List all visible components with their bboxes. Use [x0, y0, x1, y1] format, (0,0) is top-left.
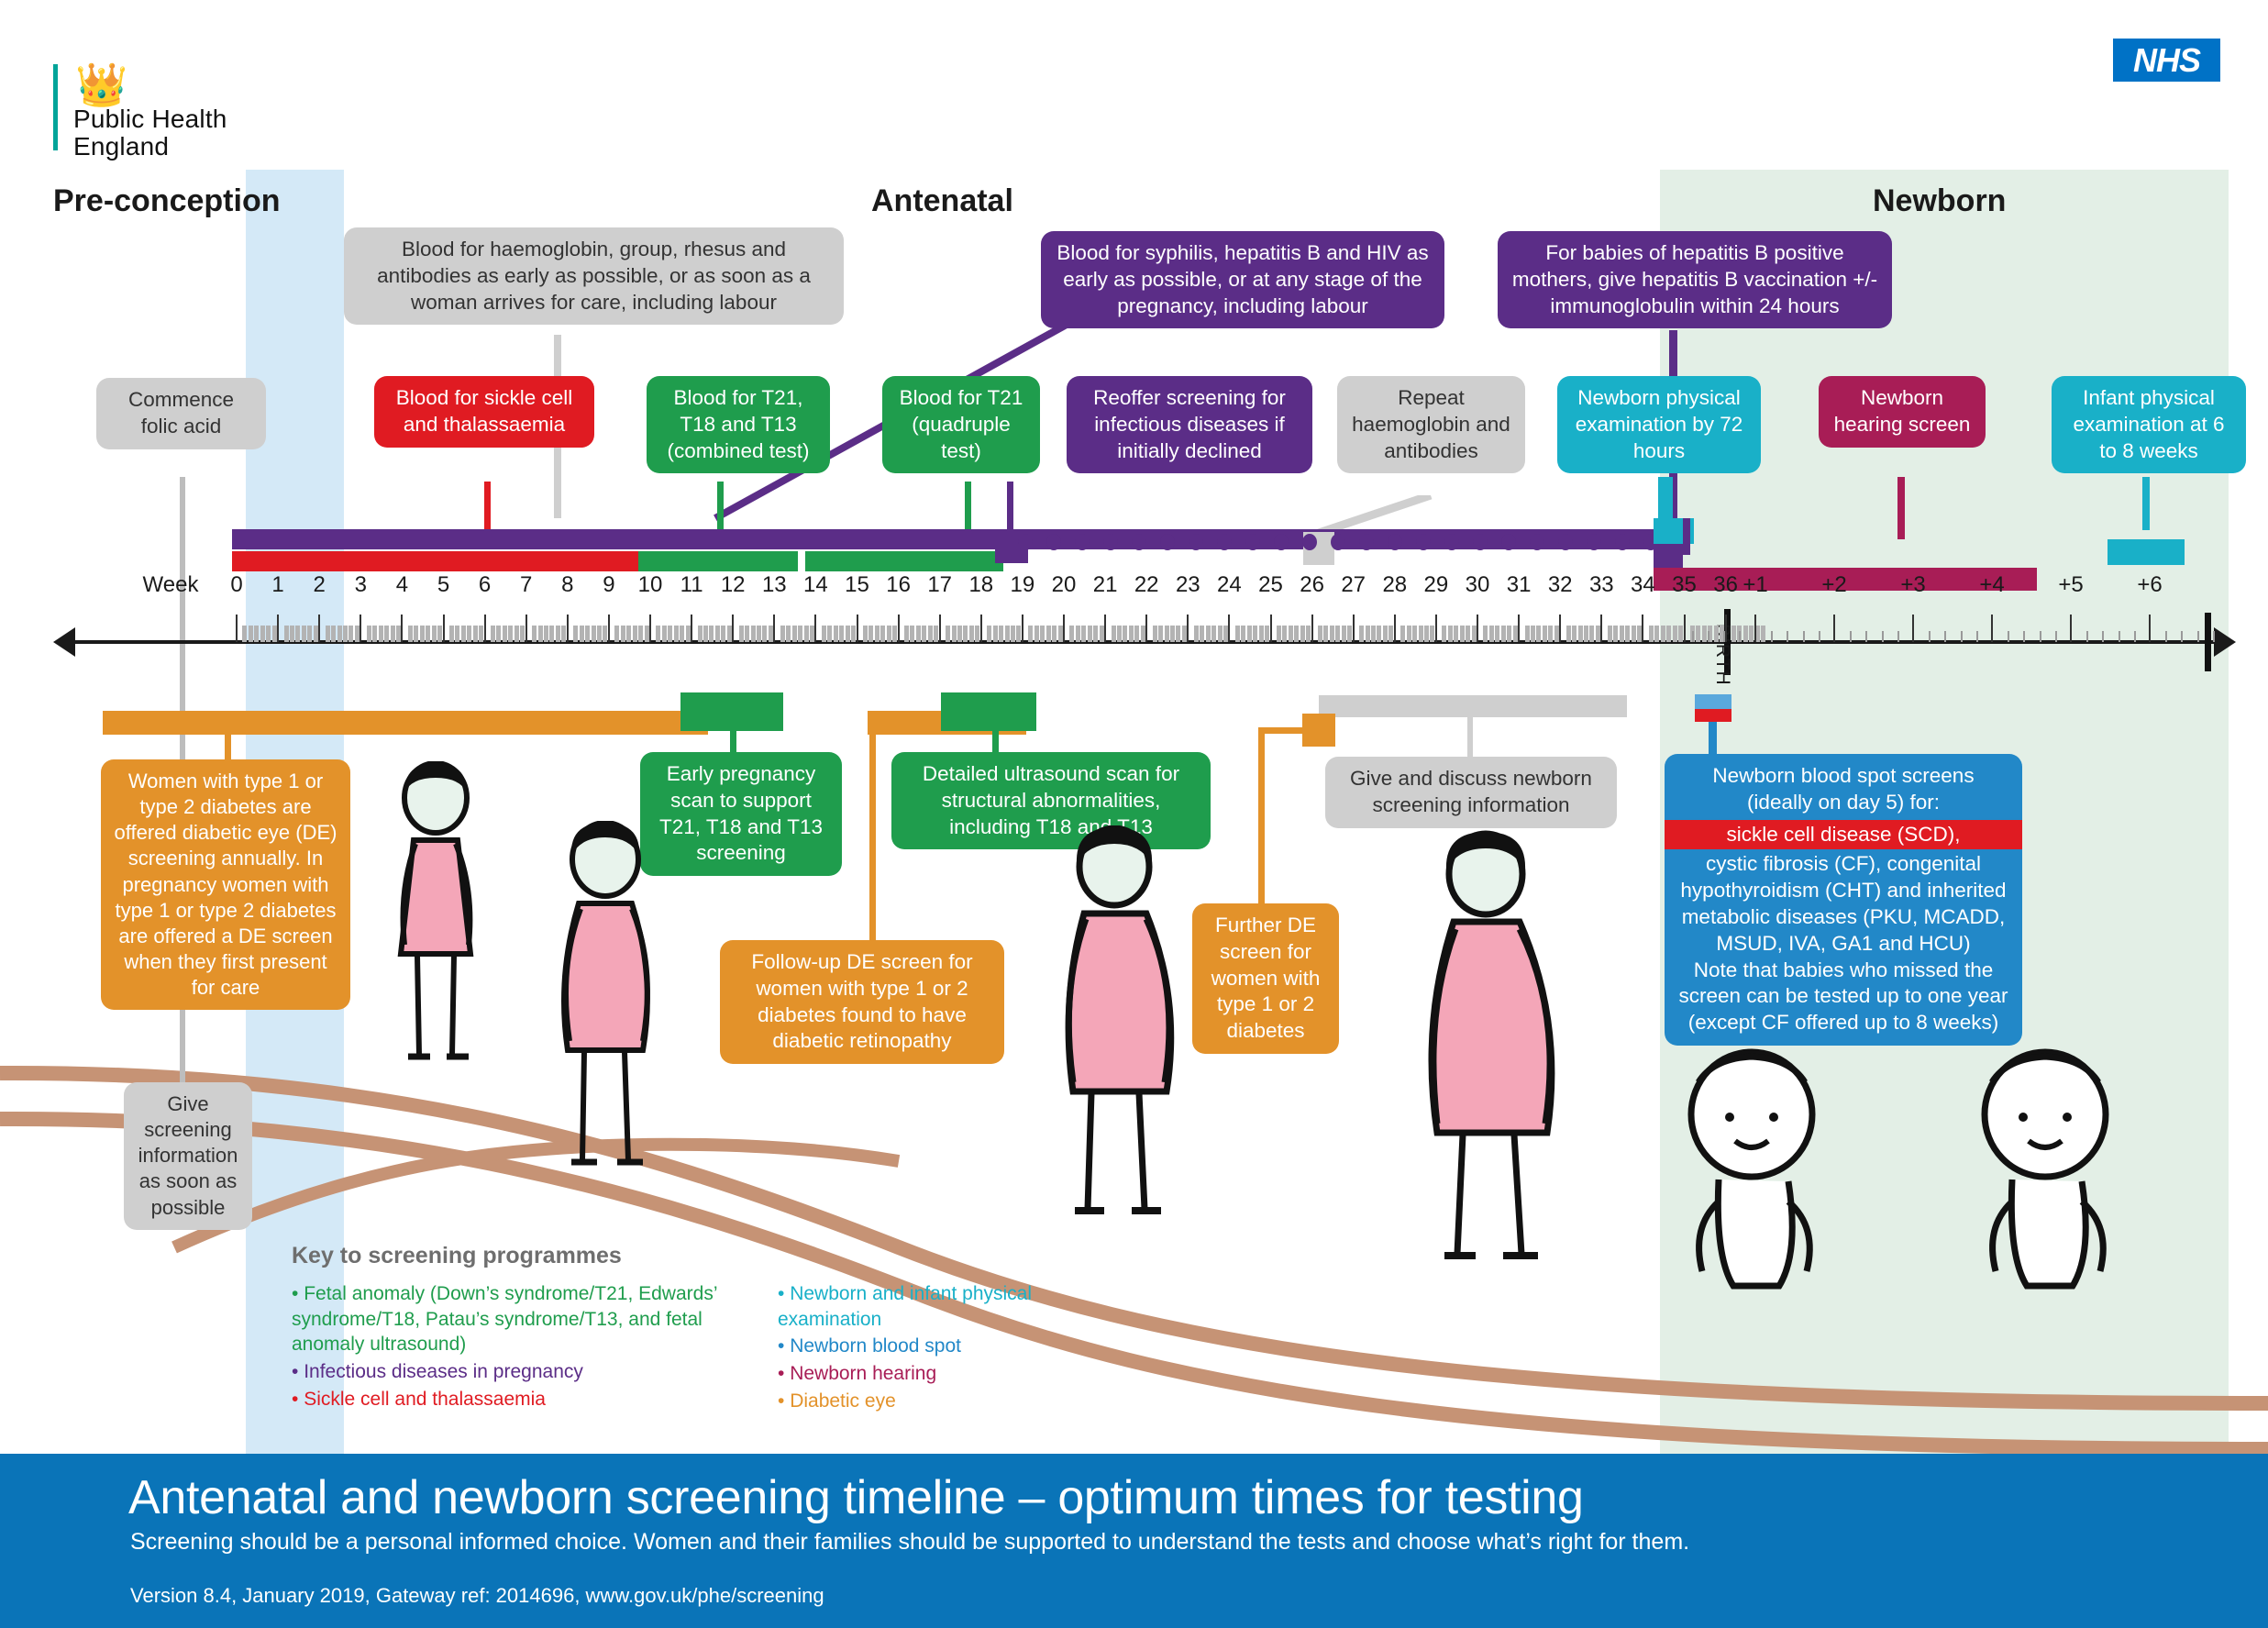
axis-week-label: 8: [561, 572, 573, 598]
axis-minor-tick: [1058, 626, 1063, 642]
axis-minor-tick: [633, 626, 637, 642]
axis-minor-tick: [1976, 631, 1978, 642]
key-item: • Fetal anomaly (Down’s syndrome/T21, Ed…: [292, 1281, 769, 1357]
bloodspot-conditions: cystic fibrosis (CF), congenital hypothy…: [1665, 849, 2022, 957]
axis-minor-tick: [254, 626, 259, 642]
axis-minor-tick: [1501, 626, 1506, 642]
axis-minor-tick: [614, 626, 619, 642]
axis-minor-tick: [1507, 626, 1511, 642]
axis-minor-tick: [260, 626, 265, 642]
key-item: • Newborn and infant physical examinatio…: [778, 1281, 1090, 1332]
axis-minor-tick: [1472, 626, 1477, 642]
axis-minor-tick: [727, 626, 732, 642]
axis-minor-tick: [1678, 626, 1683, 642]
axis-week-label: 9: [603, 572, 614, 598]
axis-minor-tick: [887, 626, 891, 642]
axis-minor-tick: [786, 626, 791, 642]
callout-quadruple-test: Blood for T21 (quadruple test): [882, 376, 1040, 473]
axis-week-label: 2: [314, 572, 326, 598]
axis-minor-tick: [343, 626, 348, 642]
infectious-bar-dot: [1075, 534, 1090, 550]
axis-minor-tick: [1708, 631, 1709, 642]
axis-week-label: 14: [803, 572, 828, 598]
axis-minor-tick: [987, 626, 991, 642]
axis-minor-tick: [1483, 626, 1488, 642]
key-item: • Newborn blood spot: [778, 1334, 1090, 1359]
key-item-label: Newborn hearing: [790, 1363, 936, 1384]
axis-minor-tick: [1011, 626, 1015, 642]
axis-major-tick: [1394, 615, 1396, 642]
axis-minor-tick: [721, 626, 725, 642]
axis-minor-tick: [580, 626, 584, 642]
connector-combined-test: [717, 482, 724, 537]
axis-minor-tick: [1787, 631, 1788, 642]
axis-minor-tick: [1882, 631, 1884, 642]
axis-minor-tick: [680, 626, 684, 642]
axis-week-label: 29: [1424, 572, 1449, 598]
axis-minor-tick: [2102, 631, 2104, 642]
callout-syphilis-hepb-hiv: Blood for syphilis, hepatitis B and HIV …: [1041, 231, 1444, 328]
axis-minor-tick: [709, 626, 714, 642]
key-item: • Newborn hearing: [778, 1361, 1090, 1387]
axis-major-tick: [236, 615, 238, 642]
key-bullet-icon: •: [292, 1389, 304, 1410]
bar-fetal-anomaly-quadruple: [805, 551, 1003, 571]
infectious-bar-dot: [1046, 534, 1061, 550]
axis-minor-tick: [290, 626, 294, 642]
axis-minor-tick: [1578, 626, 1583, 642]
axis-minor-tick: [910, 626, 914, 642]
axis-minor-tick: [846, 626, 850, 642]
infectious-bar-dot: [1217, 534, 1232, 550]
axis-minor-tick: [957, 626, 962, 642]
axis-minor-tick: [969, 626, 974, 642]
axis-minor-tick: [491, 626, 495, 642]
axis-minor-tick: [1388, 626, 1393, 642]
axis-minor-tick: [1731, 626, 1736, 642]
infectious-bar-dot: [1359, 534, 1374, 550]
axis-major-tick: [1187, 615, 1189, 642]
axis-major-tick: [857, 615, 858, 642]
callout-diabetic-eye-main: Women with type 1 or type 2 diabetes are…: [101, 759, 350, 1010]
bloodspot-line1: Newborn blood spot screens: [1665, 754, 2022, 790]
key-bullet-icon: •: [292, 1283, 304, 1304]
callout-infant-6to8-weeks: Infant physical examination at 6 to 8 we…: [2052, 376, 2246, 473]
axis-minor-tick: [242, 626, 247, 642]
axis-major-tick: [1600, 615, 1602, 642]
logo-rule: [53, 64, 58, 150]
axis-minor-tick: [1194, 626, 1199, 642]
axis-minor-tick: [1749, 626, 1754, 642]
marker-infectious-birth-stem: [1683, 518, 1690, 555]
axis-minor-tick: [863, 626, 868, 642]
callout-further-de-screen: Further DE screen for women with type 1 …: [1192, 903, 1339, 1054]
axis-minor-tick: [2023, 631, 2025, 642]
axis-minor-tick: [868, 626, 873, 642]
axis-week-label: 27: [1341, 572, 1366, 598]
axis-minor-tick: [348, 626, 353, 642]
axis-major-tick: [360, 615, 361, 642]
axis-minor-tick: [880, 626, 885, 642]
axis-minor-tick: [963, 626, 968, 642]
callout-give-screening-info: Give screening information as soon as po…: [124, 1082, 252, 1230]
axis-minor-tick: [1081, 626, 1086, 642]
axis-week-label: 18: [968, 572, 993, 598]
axis-week-label: 15: [845, 572, 869, 598]
axis-minor-tick: [1235, 626, 1240, 642]
public-health-england-logo: 👑 Public Health England: [53, 48, 264, 149]
callout-sickle-cell: Blood for sickle cell and thalassaemia: [374, 376, 594, 448]
axis-minor-tick: [769, 626, 773, 642]
axis-minor-tick: [1046, 626, 1051, 642]
axis-minor-tick: [391, 626, 395, 642]
axis-minor-tick: [1182, 626, 1187, 642]
axis-minor-tick: [626, 626, 631, 642]
axis-minor-tick: [420, 626, 425, 642]
bar-infectious-dotted: [1018, 534, 1660, 550]
axis-major-tick: [443, 615, 445, 642]
footer-version: Version 8.4, January 2019, Gateway ref: …: [130, 1584, 824, 1608]
callout-repeat-haemoglobin: Repeat haemoglobin and antibodies: [1337, 376, 1525, 473]
axis-minor-tick: [384, 626, 389, 642]
axis-major-tick: [1353, 615, 1355, 642]
axis-minor-tick: [1771, 631, 1773, 642]
axis-minor-tick: [302, 626, 306, 642]
axis-minor-tick: [904, 626, 909, 642]
stage-heading-newborn: Newborn: [1873, 183, 2006, 219]
axis-minor-tick: [503, 626, 507, 642]
callout-newborn-screening-info: Give and discuss newborn screening infor…: [1325, 757, 1617, 828]
axis-minor-tick: [1649, 626, 1654, 642]
axis-minor-tick: [432, 626, 437, 642]
axis-minor-tick: [1460, 626, 1465, 642]
marker-bloodspot-blue: [1695, 694, 1731, 709]
axis-major-tick: [1684, 615, 1686, 642]
axis-minor-tick: [1347, 626, 1352, 642]
axis-minor-tick: [2213, 631, 2215, 642]
axis-minor-tick: [1016, 626, 1021, 642]
axis-week-label: 6: [479, 572, 491, 598]
axis-week-label: 32: [1548, 572, 1573, 598]
callout-haemoglobin: Blood for haemoglobin, group, rhesus and…: [344, 227, 844, 325]
axis-week-label: 11: [680, 572, 703, 598]
marker-infectious-birth: [1654, 544, 1683, 568]
axis-minor-tick: [1117, 626, 1122, 642]
axis-minor-tick: [2165, 631, 2167, 642]
axis-minor-tick: [372, 626, 377, 642]
axis-major-tick: [1559, 615, 1561, 642]
axis-major-tick: [1145, 615, 1147, 642]
axis-minor-tick: [892, 626, 897, 642]
axis-minor-tick: [1306, 626, 1311, 642]
axis-minor-tick: [437, 626, 442, 642]
axis-minor-tick: [1632, 626, 1636, 642]
axis-week-label: 1: [271, 572, 283, 598]
axis-major-tick: [1228, 615, 1230, 642]
axis-minor-tick: [1608, 626, 1612, 642]
axis-minor-tick: [1253, 626, 1257, 642]
axis-minor-tick: [592, 626, 596, 642]
axis-minor-tick: [1761, 626, 1765, 642]
axis-minor-tick: [2008, 631, 2009, 642]
axis-minor-tick: [307, 626, 312, 642]
axis-minor-tick: [668, 626, 672, 642]
axis-minor-tick: [757, 626, 761, 642]
axis-week-label: 5: [437, 572, 449, 598]
axis-minor-tick: [674, 626, 679, 642]
axis-post-label: +3: [1900, 572, 1925, 598]
axis-minor-tick: [1259, 626, 1264, 642]
axis-minor-tick: [1819, 631, 1820, 642]
key-item-label: Sickle cell and thalassaemia: [304, 1389, 546, 1410]
axis-minor-tick: [1176, 626, 1180, 642]
axis-minor-tick: [1335, 626, 1340, 642]
axis-minor-tick: [1129, 626, 1134, 642]
axis-minor-tick: [549, 626, 554, 642]
axis-minor-tick: [538, 626, 543, 642]
axis-minor-tick: [284, 626, 289, 642]
axis-minor-tick: [1400, 626, 1405, 642]
axis-minor-tick: [1536, 626, 1541, 642]
axis-minor-tick: [1584, 626, 1588, 642]
axis-minor-tick: [1005, 626, 1010, 642]
footer-banner: Antenatal and newborn screening timeline…: [0, 1454, 2268, 1628]
axis-minor-tick: [1620, 626, 1624, 642]
axis-minor-tick: [1696, 626, 1700, 642]
axis-minor-tick: [810, 626, 814, 642]
axis-major-tick: [1642, 615, 1643, 642]
axis-minor-tick: [1430, 626, 1434, 642]
infectious-bar-dot: [1160, 534, 1175, 550]
axis-minor-tick: [1489, 626, 1494, 642]
axis-minor-tick: [1134, 626, 1139, 642]
stage-heading-preconception: Pre-conception: [53, 183, 280, 219]
axis-week-label: 4: [396, 572, 408, 598]
axis-minor-tick: [698, 626, 703, 642]
callout-folic-acid: Commence folic acid: [96, 378, 266, 449]
key-bullet-icon: •: [778, 1335, 790, 1357]
key-bullet-icon: •: [778, 1390, 790, 1412]
axis-minor-tick: [1702, 626, 1707, 642]
key-item-label: Fetal anomaly (Down’s syndrome/T21, Edwa…: [292, 1283, 717, 1355]
axis-week-label: 33: [1589, 572, 1614, 598]
bar-infant-physical-exam: [2108, 539, 2185, 565]
axis-minor-tick: [1034, 626, 1039, 642]
axis-major-tick: [939, 615, 941, 642]
axis-major-tick: [484, 615, 486, 642]
axis-minor-tick: [1572, 626, 1577, 642]
axis-minor-tick: [751, 626, 756, 642]
axis-minor-tick: [266, 626, 271, 642]
key-bullet-icon: •: [778, 1363, 790, 1384]
axis-minor-tick: [2086, 631, 2088, 642]
axis-week-label: 23: [1176, 572, 1200, 598]
axis-minor-tick: [1589, 626, 1594, 642]
axis-minor-tick: [1289, 626, 1293, 642]
connector-further-de-horizontal: [1258, 727, 1308, 734]
bloodspot-note: Note that babies who missed the screen c…: [1665, 958, 2022, 1046]
axis-week-label: 17: [927, 572, 952, 598]
axis-post-label: +5: [2058, 572, 2083, 598]
axis-minor-tick: [597, 626, 602, 642]
axis-minor-tick: [2119, 631, 2120, 642]
axis-major-tick: [1104, 615, 1106, 642]
stage-heading-antenatal: Antenatal: [871, 183, 1013, 219]
axis-minor-tick: [798, 626, 802, 642]
axis-minor-tick: [1028, 626, 1033, 642]
axis-minor-tick: [804, 626, 809, 642]
axis-major-tick: [691, 615, 692, 642]
axis-minor-tick: [1803, 631, 1805, 642]
callout-newborn-hearing: Newborn hearing screen: [1819, 376, 1986, 448]
axis-minor-tick: [379, 626, 383, 642]
infectious-bar-dot: [1416, 534, 1431, 550]
axis-minor-tick: [1554, 626, 1559, 642]
axis-minor-tick: [1929, 631, 1931, 642]
axis-week-label: 34: [1631, 572, 1655, 598]
axis-week-label: 3: [355, 572, 367, 598]
axis-minor-tick: [851, 626, 856, 642]
axis-minor-tick: [703, 626, 708, 642]
axis-minor-tick: [2197, 631, 2199, 642]
axis-minor-tick: [662, 626, 667, 642]
axis-minor-tick: [573, 626, 578, 642]
axis-minor-tick: [1100, 626, 1104, 642]
axis-end-line: [2205, 613, 2211, 671]
axis-week-label: 22: [1134, 572, 1159, 598]
infectious-bar-dot: [1501, 534, 1516, 550]
infectious-bar-dot: [1473, 534, 1488, 550]
axis-minor-tick: [1241, 626, 1245, 642]
axis-week-label: 36: [1713, 572, 1738, 598]
axis-major-tick: [2149, 615, 2151, 642]
axis-minor-tick: [2181, 631, 2183, 642]
axis-minor-tick: [934, 626, 938, 642]
axis-minor-tick: [1123, 626, 1127, 642]
axis-minor-tick: [1300, 626, 1305, 642]
key-item: • Infectious diseases in pregnancy: [292, 1359, 769, 1385]
axis-minor-tick: [1153, 626, 1157, 642]
axis-minor-tick: [1654, 626, 1659, 642]
axis-post-label: +4: [1979, 572, 2004, 598]
axis-minor-tick: [408, 626, 413, 642]
bar-sickle-cell: [232, 551, 638, 571]
axis-major-tick: [1754, 615, 1756, 642]
connector-followup-de: [869, 735, 876, 955]
axis-minor-tick: [739, 626, 744, 642]
axis-minor-tick: [295, 626, 300, 642]
callout-combined-test: Blood for T21, T18 and T13 (combined tes…: [647, 376, 830, 473]
axis-minor-tick: [999, 626, 1003, 642]
axis-minor-tick: [1223, 626, 1228, 642]
nhs-logo: NHS: [2113, 39, 2220, 82]
callout-nipe-72-hours: Newborn physical examination by 72 hours: [1557, 376, 1761, 473]
axis-major-tick: [814, 615, 816, 642]
axis-major-tick: [980, 615, 982, 642]
key-bullet-icon: •: [292, 1361, 304, 1382]
axis-minor-tick: [2134, 631, 2136, 642]
axis-major-tick: [277, 615, 279, 642]
axis-week-label: 19: [1011, 572, 1035, 598]
axis-minor-tick: [1282, 626, 1287, 642]
axis-minor-tick: [1277, 626, 1281, 642]
phe-logo-line2: England: [73, 132, 169, 161]
axis-minor-tick: [1525, 626, 1530, 642]
marker-bloodspot-red: [1695, 709, 1731, 722]
axis-week-label: 0: [230, 572, 242, 598]
connector-sickle-cell: [484, 482, 491, 537]
axis-minor-tick: [1318, 626, 1322, 642]
axis-minor-tick: [1076, 626, 1080, 642]
axis-minor-tick: [1666, 626, 1671, 642]
axis-post-label: +1: [1742, 572, 1767, 598]
bar-diabetic-eye-early: [103, 711, 708, 735]
axis-minor-tick: [1714, 626, 1719, 642]
axis-minor-tick: [822, 626, 826, 642]
axis-minor-tick: [1377, 626, 1381, 642]
axis-minor-tick: [952, 626, 957, 642]
axis-major-tick: [1518, 615, 1520, 642]
axis-minor-tick: [1661, 626, 1665, 642]
axis-major-tick: [1063, 615, 1065, 642]
axis-minor-tick: [455, 626, 459, 642]
infectious-bar-dot: [1331, 534, 1345, 550]
axis-minor-tick: [839, 626, 844, 642]
axis-minor-tick: [396, 626, 401, 642]
axis-minor-tick: [1040, 626, 1045, 642]
connector-reoffer: [1007, 482, 1013, 537]
key-item-label: Newborn blood spot: [790, 1335, 961, 1357]
axis-week-label: 10: [638, 572, 663, 598]
axis-minor-tick: [1371, 626, 1376, 642]
figure-baby-1: [1660, 1046, 1843, 1321]
axis-minor-tick: [621, 626, 625, 642]
bloodspot-sickle-cell-highlight: sickle cell disease (SCD),: [1665, 820, 2022, 850]
figure-baby-2: [1953, 1046, 2137, 1321]
key-bullet-icon: •: [778, 1283, 790, 1304]
axis-minor-tick: [1407, 626, 1411, 642]
key-item: • Diabetic eye: [778, 1389, 1090, 1414]
axis-minor-tick: [1739, 631, 1741, 642]
axis-minor-tick: [1323, 626, 1328, 642]
axis-week-label: 28: [1382, 572, 1407, 598]
axis-minor-tick: [1330, 626, 1334, 642]
axis-major-tick: [608, 615, 610, 642]
axis-minor-tick: [532, 626, 537, 642]
axis-minor-tick: [1543, 626, 1547, 642]
figure-woman-1: [362, 761, 509, 1082]
axis-minor-tick: [1897, 631, 1899, 642]
axis-minor-tick: [1265, 626, 1269, 642]
axis-minor-tick: [1448, 626, 1453, 642]
axis-minor-tick: [827, 626, 832, 642]
axis-minor-tick: [1961, 631, 1963, 642]
axis-minor-tick: [1342, 626, 1346, 642]
axis-major-tick: [649, 615, 651, 642]
axis-major-tick: [1991, 615, 1993, 642]
infectious-bar-dot: [1444, 534, 1459, 550]
infectious-bar-dot: [1302, 534, 1317, 550]
bar-newborn-info: [1319, 695, 1627, 717]
infectious-bar-dot: [1132, 534, 1146, 550]
axis-minor-tick: [467, 626, 471, 642]
axis-minor-tick: [1211, 626, 1216, 642]
callout-hepb-vaccination: For babies of hepatitis B positive mothe…: [1498, 231, 1892, 328]
key-column-right: • Newborn and infant physical examinatio…: [778, 1281, 1090, 1416]
axis-minor-tick: [1093, 626, 1098, 642]
axis-minor-tick: [875, 626, 880, 642]
axis-minor-tick: [2040, 631, 2041, 642]
